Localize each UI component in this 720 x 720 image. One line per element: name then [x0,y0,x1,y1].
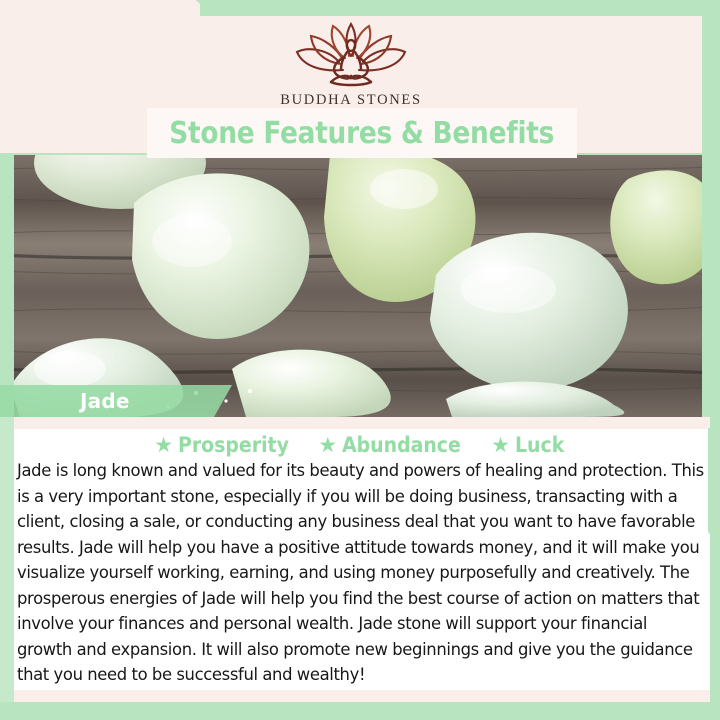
star-icon: ★ [154,435,173,456]
benefit-item: ★ Luck [491,433,570,457]
star-icon: ★ [491,435,510,456]
panel-bottom-tint [14,690,710,702]
infographic-page: BUDDHA STONES Stone Features & Benefits [0,0,720,720]
hero-image [0,155,718,417]
panel-top-tint [14,417,710,429]
hero-right-edge [702,155,720,417]
jade-stones-photo [0,155,718,417]
header-notch-shape [0,0,200,16]
benefit-label: Prosperity [178,433,289,457]
hero-left-edge [0,155,14,417]
lotus-meditation-icon [285,22,417,90]
brand-logo: BUDDHA STONES [0,22,702,109]
star-icon: ★ [318,435,337,456]
panel-left-green-edge [0,417,14,702]
benefit-label: Abundance [342,433,461,457]
benefits-row: ★ Prosperity ★ Abundance ★ Luck [14,430,710,460]
stone-name-label: Jade [80,389,130,413]
benefit-item: ★ Prosperity [154,433,301,457]
benefit-label: Luck [515,433,564,457]
title-banner: Stone Features & Benefits [147,108,577,158]
stone-name-banner: Jade [0,385,232,417]
benefit-item: ★ Abundance [318,433,474,457]
brand-name: BUDDHA STONES [280,92,421,109]
page-title: Stone Features & Benefits [170,116,555,151]
description-text: Jade is long known and valued for its be… [17,458,705,688]
